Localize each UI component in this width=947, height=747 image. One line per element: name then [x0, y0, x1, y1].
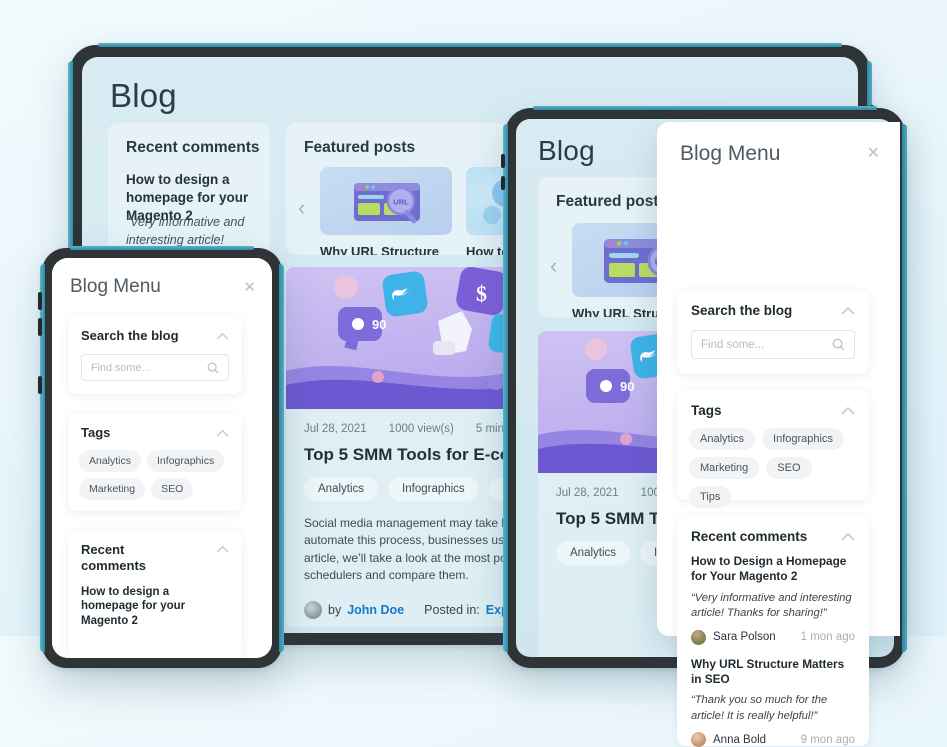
tags-card: Tags Analytics Infographics Marketing SE…: [677, 390, 869, 500]
tablet2-right-edge: [902, 124, 907, 652]
phone-device: Blog Menu ✕ Search the blog Find some...: [42, 248, 282, 668]
phone-volume-up-button[interactable]: [38, 318, 42, 336]
recent-comments-title: Recent comments: [126, 139, 260, 157]
comment-quote: “Thank you so much for the article! It i…: [691, 693, 855, 724]
phone-top-edge: [70, 246, 254, 250]
avatar: [691, 732, 706, 747]
list-item: How to Design a Homepage for Your Magent…: [677, 544, 869, 645]
chevron-up-icon[interactable]: [841, 532, 855, 541]
svg-text:URL: URL: [393, 198, 409, 207]
phone-screen: Blog Menu ✕ Search the blog Find some...: [52, 258, 272, 658]
comment-time: 9 mon ago: [801, 734, 855, 746]
tags-card: Tags Analytics Infographics Marketing SE…: [68, 413, 242, 511]
search-icon[interactable]: [832, 338, 845, 351]
tag-chip[interactable]: SEO: [766, 457, 811, 479]
featured-posts-title: Featured posts: [304, 139, 415, 157]
svg-text:90: 90: [372, 317, 386, 332]
chevron-up-icon[interactable]: [841, 406, 855, 415]
comment-quote: “Very informative and interesting articl…: [691, 591, 855, 622]
search-icon[interactable]: [207, 362, 219, 374]
blog-menu-panel-mobile: Blog Menu ✕ Search the blog Find some...: [52, 258, 272, 658]
blog-menu-title: Blog Menu: [70, 276, 161, 298]
comment-time: 1 mon ago: [801, 631, 855, 643]
page-title: Blog: [110, 77, 177, 115]
recent-comments-card: Recent comments How to Design a Homepage…: [677, 516, 869, 746]
recent-comments-card-title: Recent comments: [691, 529, 807, 544]
article-tag[interactable]: Analytics: [304, 477, 378, 501]
tag-chip[interactable]: Analytics: [689, 428, 755, 450]
search-input[interactable]: Find some...: [691, 330, 855, 359]
article-views: 1000 view(s): [389, 423, 454, 435]
search-card: Search the blog Find some...: [68, 316, 242, 394]
tag-chip[interactable]: Tips: [689, 486, 731, 508]
tablet-top-edge: [98, 43, 842, 47]
featured-card[interactable]: URL Why URL Structure Matters in SEO: [320, 167, 452, 255]
svg-text:90: 90: [620, 379, 634, 394]
list-item: Why URL Structure Matters in SEO “Thank …: [677, 645, 869, 747]
page-title: Blog: [538, 135, 595, 167]
tablet2-volume-button[interactable]: [501, 176, 505, 190]
comment-author: Anna Bold: [713, 734, 766, 746]
article-author[interactable]: John Doe: [347, 603, 404, 617]
search-card-title: Search the blog: [691, 303, 792, 318]
close-icon[interactable]: ✕: [867, 146, 880, 162]
phone-volume-down-button[interactable]: [38, 376, 42, 394]
comment-post-title[interactable]: Why URL Structure Matters in SEO: [691, 657, 855, 688]
tag-chip[interactable]: Marketing: [689, 457, 759, 479]
author-avatar: [304, 601, 322, 619]
tag-chip[interactable]: SEO: [151, 478, 193, 500]
tablet2-left-edge: [503, 124, 508, 652]
tags-card-title: Tags: [691, 403, 722, 418]
search-placeholder: Find some...: [91, 362, 150, 374]
tag-chip[interactable]: Analytics: [79, 450, 141, 472]
search-input[interactable]: Find some...: [81, 354, 229, 381]
featured-card-caption: Why URL Structure Matters in SEO: [320, 244, 452, 255]
blog-menu-title: Blog Menu: [680, 142, 780, 166]
scene: Blog Recent comments How to design a hom…: [0, 0, 947, 636]
tablet2-power-button[interactable]: [501, 154, 505, 168]
byline-prefix: by: [328, 603, 341, 617]
tablet2-top-edge: [533, 106, 877, 110]
article-read-time: 5 min: [476, 423, 504, 435]
phone-right-edge: [279, 264, 284, 652]
tags-card-title: Tags: [81, 425, 110, 440]
comment-post-title[interactable]: How to design a homepage for your Magent…: [81, 585, 229, 630]
featured-prev-arrow[interactable]: ‹: [550, 255, 557, 277]
list-item: How to design a homepage for your Magent…: [68, 575, 242, 630]
comment-author: Sara Polson: [713, 631, 776, 643]
search-card: Search the blog Find some...: [677, 290, 869, 374]
tag-chip[interactable]: Infographics: [762, 428, 844, 450]
chevron-up-icon[interactable]: [216, 332, 229, 340]
article-date: Jul 28, 2021: [304, 423, 367, 435]
chevron-up-icon[interactable]: [216, 545, 229, 553]
featured-posts-title: Featured posts: [556, 193, 667, 211]
tag-chip[interactable]: Marketing: [79, 478, 145, 500]
posted-in-label: Posted in:: [424, 603, 480, 617]
search-card-title: Search the blog: [81, 328, 179, 343]
tag-chip[interactable]: Infographics: [147, 450, 224, 472]
featured-prev-arrow[interactable]: ‹: [298, 197, 305, 219]
avatar: [691, 630, 706, 645]
article-tag[interactable]: Infographics: [388, 477, 479, 501]
search-placeholder: Find some...: [701, 339, 764, 351]
featured-card-thumbnail: URL: [320, 167, 452, 235]
close-icon[interactable]: ✕: [243, 280, 256, 295]
article-tag[interactable]: Analytics: [556, 541, 630, 565]
phone-mute-button[interactable]: [38, 292, 42, 310]
chevron-up-icon[interactable]: [216, 429, 229, 437]
recent-comments-card-title: Recent comments: [81, 542, 191, 575]
svg-text:$: $: [476, 281, 487, 306]
chevron-up-icon[interactable]: [841, 306, 855, 315]
recent-comments-card: Recent comments How to design a homepage…: [68, 530, 242, 658]
comment-post-title[interactable]: How to Design a Homepage for Your Magent…: [691, 554, 855, 585]
article-date: Jul 28, 2021: [556, 487, 619, 499]
blog-menu-panel-desktop: Blog Menu ✕ Search the blog Find some...…: [657, 122, 900, 636]
